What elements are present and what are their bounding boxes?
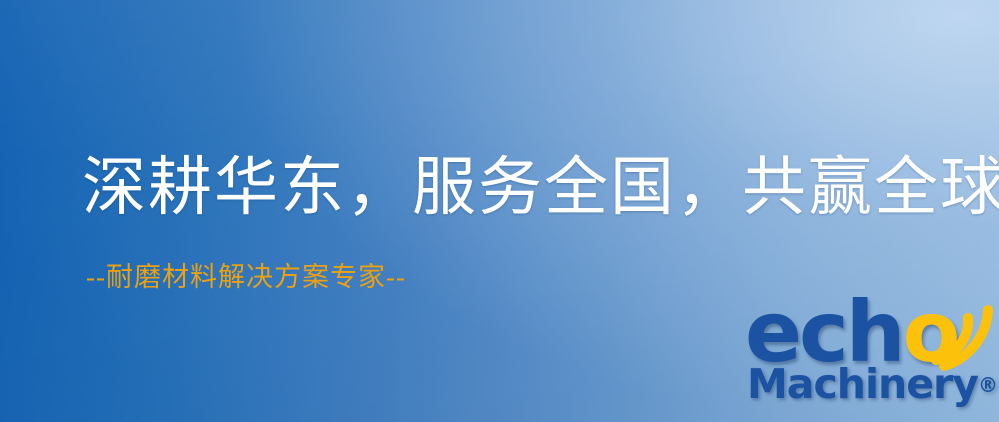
registered-trademark-mark: ® <box>978 373 998 397</box>
echo-machinery-logo: echo Machinery® <box>745 298 999 422</box>
banner-subtitle: --耐磨材料解决方案专家-- <box>86 264 406 291</box>
promotional-banner: 深耕华东，服务全国，共赢全球 --耐磨材料解决方案专家-- echo Machi… <box>0 0 999 422</box>
echo-wave-arcs-icon <box>928 294 999 370</box>
banner-headline: 深耕华东，服务全国，共赢全球 <box>82 156 999 220</box>
logo-subtext-label: Machinery <box>747 360 978 408</box>
logo-subtext: Machinery® <box>747 364 998 405</box>
